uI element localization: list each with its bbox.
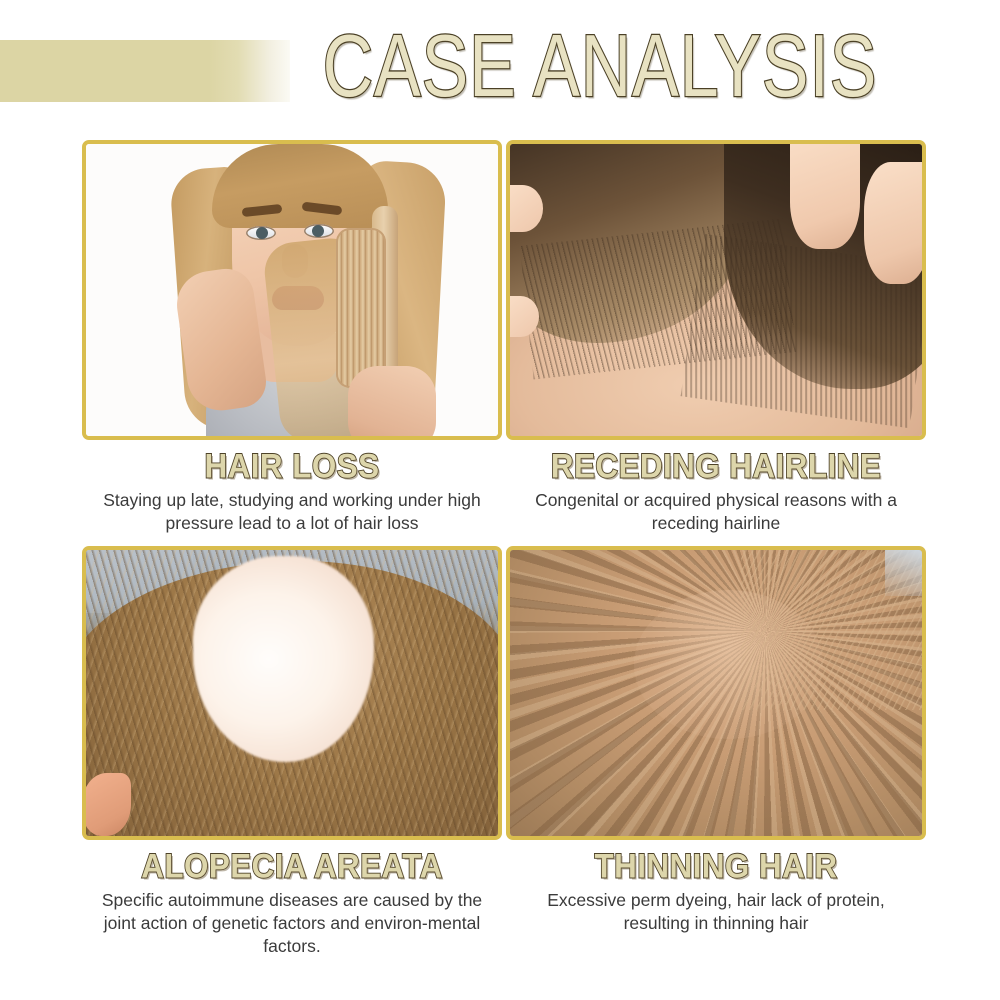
photo-frame-thinning-hair xyxy=(506,546,926,840)
case-card-grid: HAIR LOSS Staying up late, studying and … xyxy=(0,132,1000,1000)
case-card-alopecia-areata[interactable]: ALOPECIA AREATA Specific autoimmune dise… xyxy=(82,546,502,958)
photo-thinning-hair xyxy=(510,550,922,836)
hair-shape xyxy=(212,144,388,228)
card-caption-thinning-hair: Excessive perm dyeing, hair lack of prot… xyxy=(506,889,926,935)
case-card-hair-loss[interactable]: HAIR LOSS Staying up late, studying and … xyxy=(82,140,502,535)
card-caption-hair-loss: Staying up late, studying and working un… xyxy=(82,489,502,535)
finger-shape xyxy=(864,162,922,285)
hairbrush-head-shape xyxy=(336,228,386,388)
background-shape xyxy=(885,550,922,596)
card-heading-alopecia-areata: ALOPECIA AREATA xyxy=(93,848,492,884)
photo-frame-alopecia-areata xyxy=(82,546,502,840)
page-header: CASE ANALYSIS xyxy=(0,0,1000,132)
finger-shape xyxy=(790,144,860,249)
page-title: CASE ANALYSIS xyxy=(324,17,876,117)
photo-frame-receding-hairline xyxy=(506,140,926,440)
pupil-shape xyxy=(312,225,324,237)
pupil-shape xyxy=(256,227,268,239)
photo-alopecia-areata xyxy=(86,550,498,836)
photo-frame-hair-loss xyxy=(82,140,502,440)
card-heading-receding-hairline: RECEDING HAIRLINE xyxy=(517,448,916,484)
card-heading-thinning-hair: THINNING HAIR xyxy=(517,848,916,884)
header-accent-bar xyxy=(0,40,290,102)
case-card-receding-hairline[interactable]: RECEDING HAIRLINE Congenital or acquired… xyxy=(506,140,926,535)
card-caption-receding-hairline: Congenital or acquired physical reasons … xyxy=(506,489,926,535)
case-card-thinning-hair[interactable]: THINNING HAIR Excessive perm dyeing, hai… xyxy=(506,546,926,935)
card-heading-hair-loss: HAIR LOSS xyxy=(93,448,492,484)
photo-receding-hairline xyxy=(510,144,922,436)
hand-shape xyxy=(348,366,436,436)
photo-hair-loss xyxy=(86,144,498,436)
card-caption-alopecia-areata: Specific autoimmune diseases are caused … xyxy=(82,889,502,958)
